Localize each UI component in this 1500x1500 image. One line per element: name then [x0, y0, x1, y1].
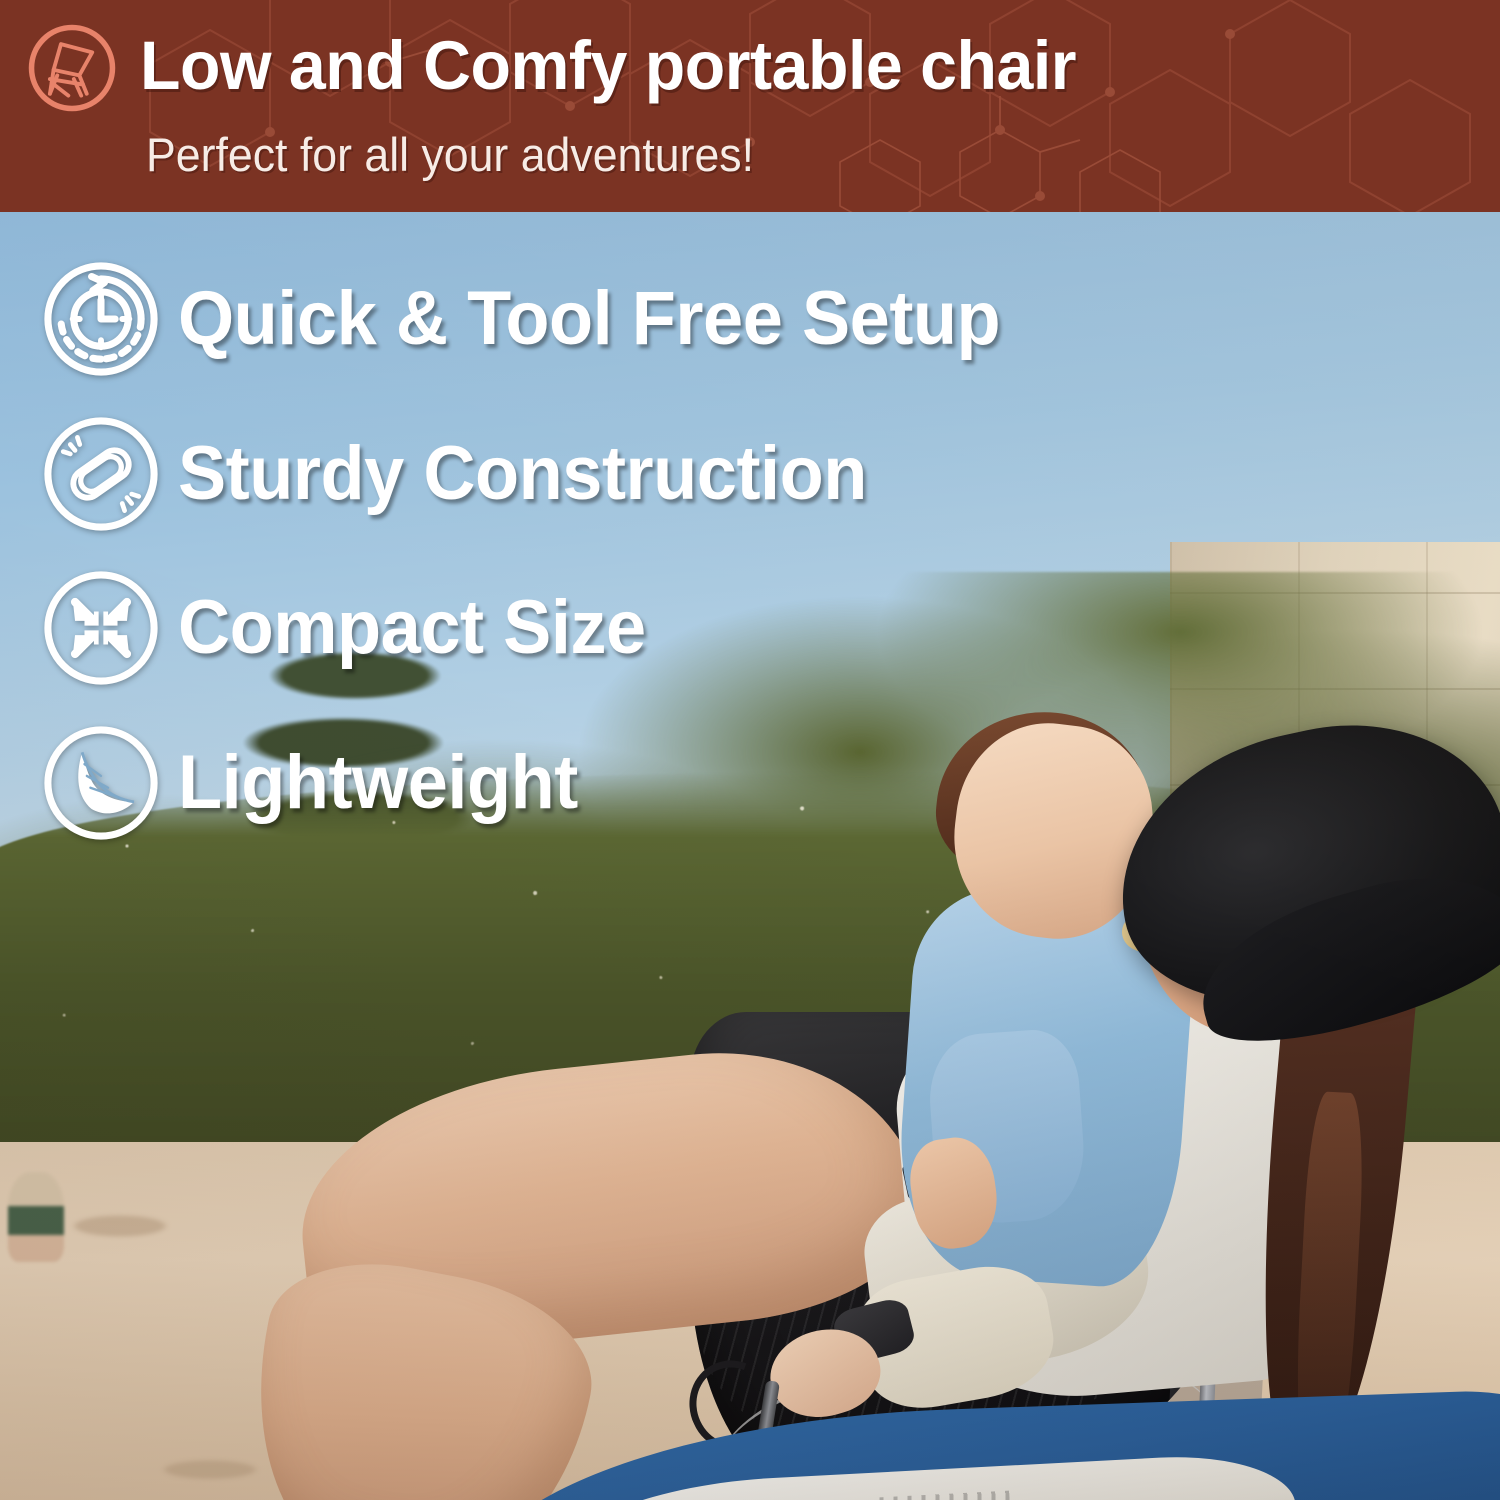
- background-child: [8, 1172, 64, 1262]
- header-banner: Low and Comfy portable chair Perfect for…: [0, 0, 1500, 212]
- feature-label: Quick & Tool Free Setup: [178, 269, 1000, 369]
- chain-link-icon: [42, 415, 160, 533]
- feature-label: Lightweight: [178, 733, 578, 833]
- page-subtitle: Perfect for all your adventures!: [146, 122, 754, 188]
- feather-icon: [42, 724, 160, 842]
- feature-item-compact: Compact Size: [42, 569, 670, 687]
- feature-item-quick-setup: Quick & Tool Free Setup: [42, 260, 1043, 378]
- chair-icon: [26, 22, 118, 114]
- compress-arrows-icon: [42, 569, 160, 687]
- product-infographic: Quick & Tool Free Setup Sturdy Construct…: [0, 0, 1500, 1500]
- feature-item-sturdy: Sturdy Construction: [42, 415, 903, 533]
- product-photo: [0, 212, 1500, 1500]
- feature-item-lightweight: Lightweight: [42, 724, 599, 842]
- page-title: Low and Comfy portable chair: [140, 22, 1076, 110]
- clock-arrow-icon: [42, 260, 160, 378]
- feature-label: Sturdy Construction: [178, 424, 867, 524]
- feature-label: Compact Size: [178, 578, 646, 678]
